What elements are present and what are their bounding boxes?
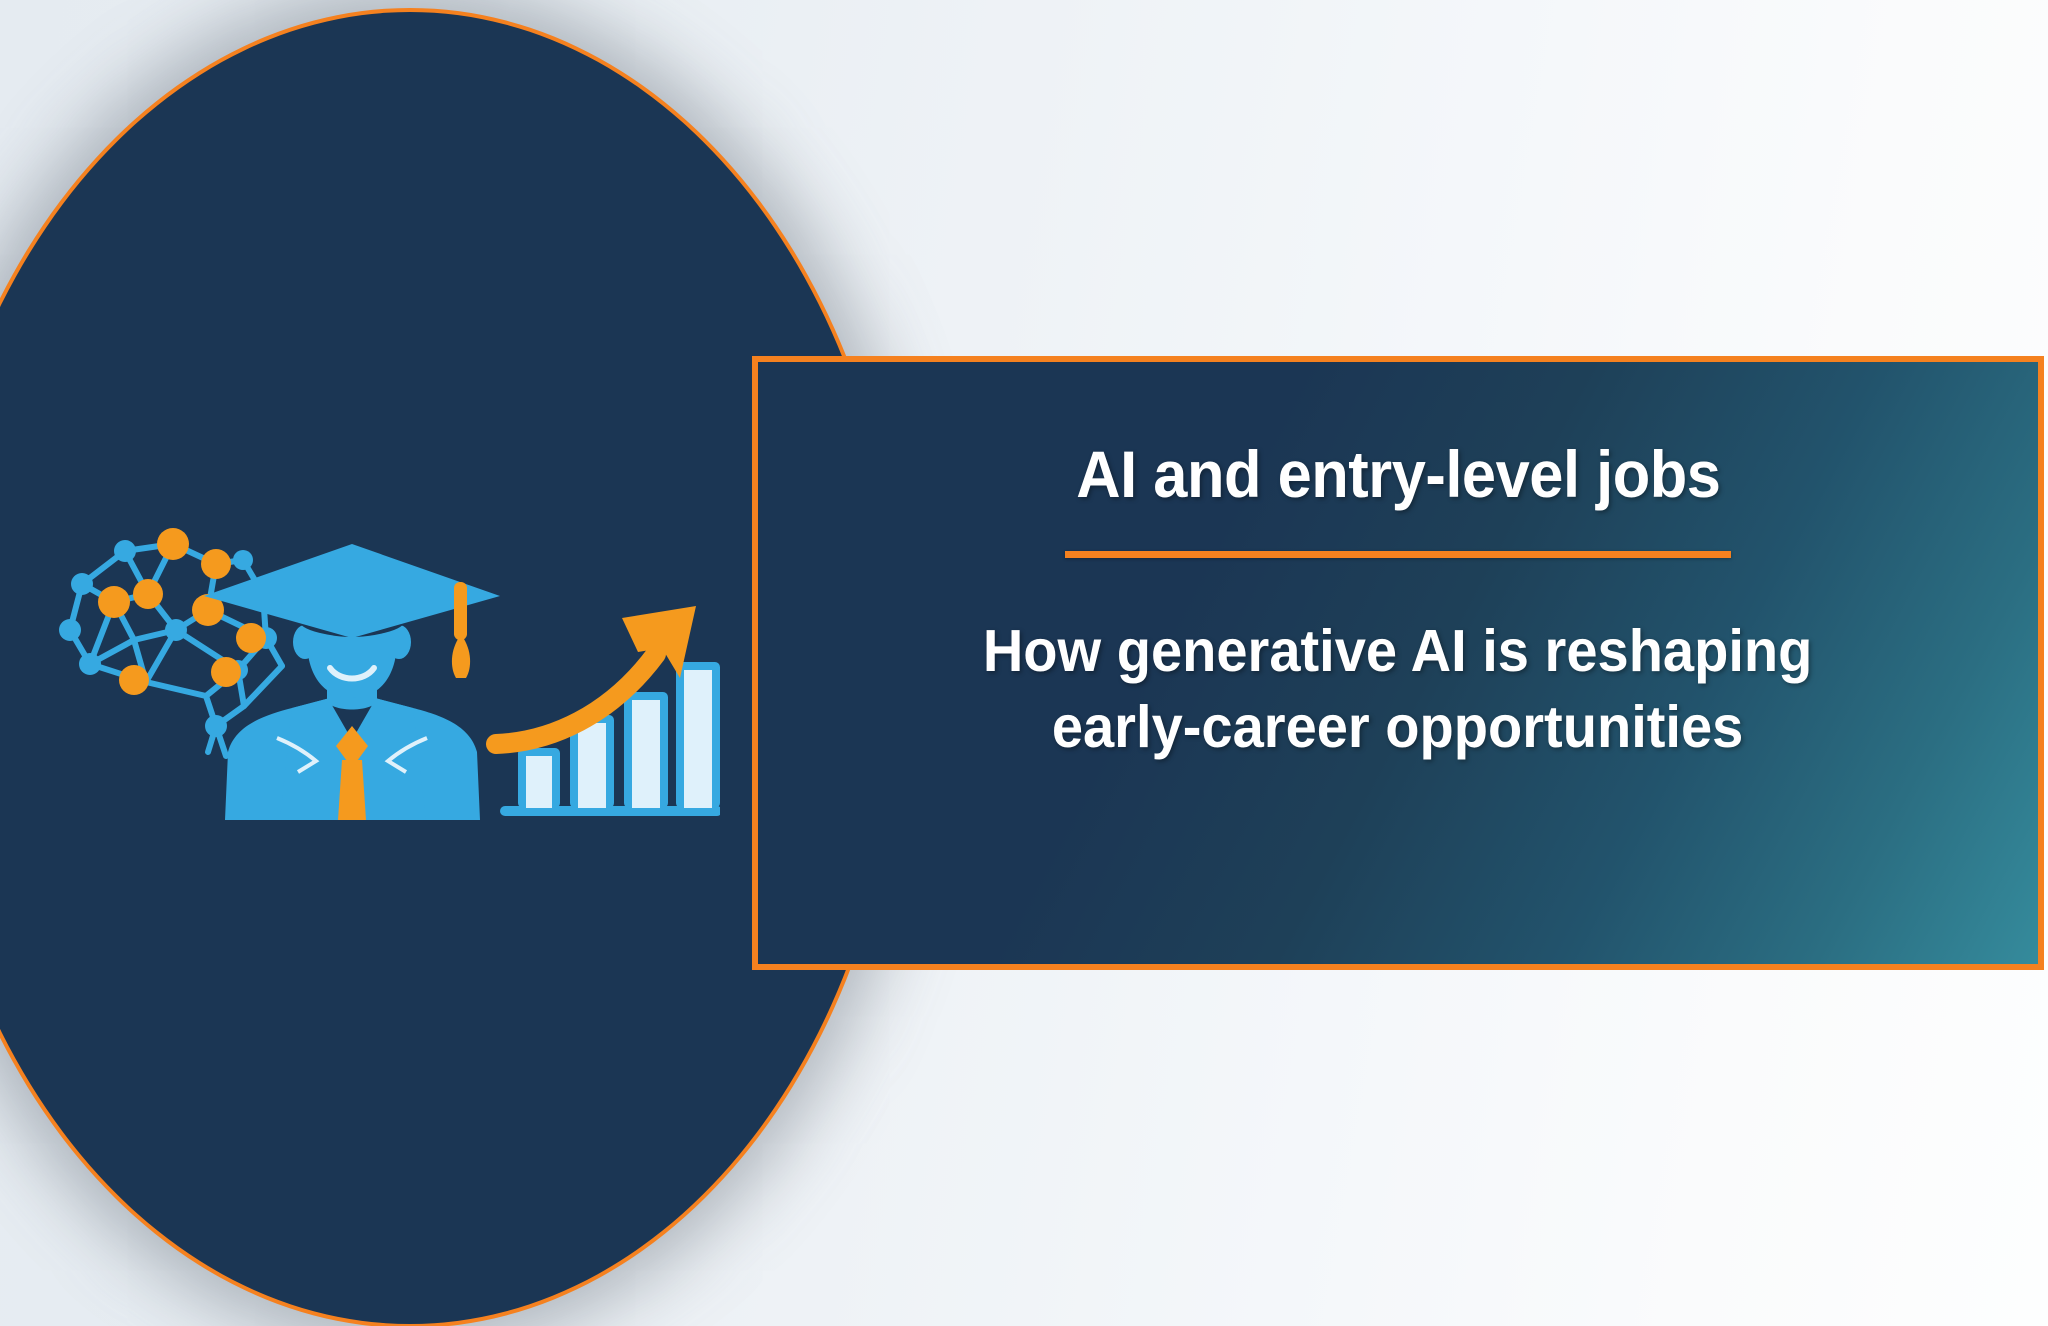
page-title: AI and entry-level jobs (1076, 440, 1720, 509)
page-subtitle-line-2: early-career opportunities (983, 690, 1813, 766)
content-card: AI and entry-level jobs How generative A… (752, 356, 2044, 970)
page-subtitle: How generative AI is reshaping early-car… (983, 614, 1813, 765)
chart-bar (624, 692, 668, 808)
chart-bar (518, 748, 560, 808)
ai-graduate-growth-illustration (30, 520, 720, 820)
page-subtitle-line-1: How generative AI is reshaping (983, 614, 1813, 690)
graduate-person-icon (204, 544, 500, 820)
chart-bar (676, 662, 720, 808)
growth-bar-chart-icon (496, 606, 720, 816)
title-divider (1065, 551, 1731, 558)
title-slide: AI and entry-level jobs How generative A… (0, 0, 2048, 1326)
